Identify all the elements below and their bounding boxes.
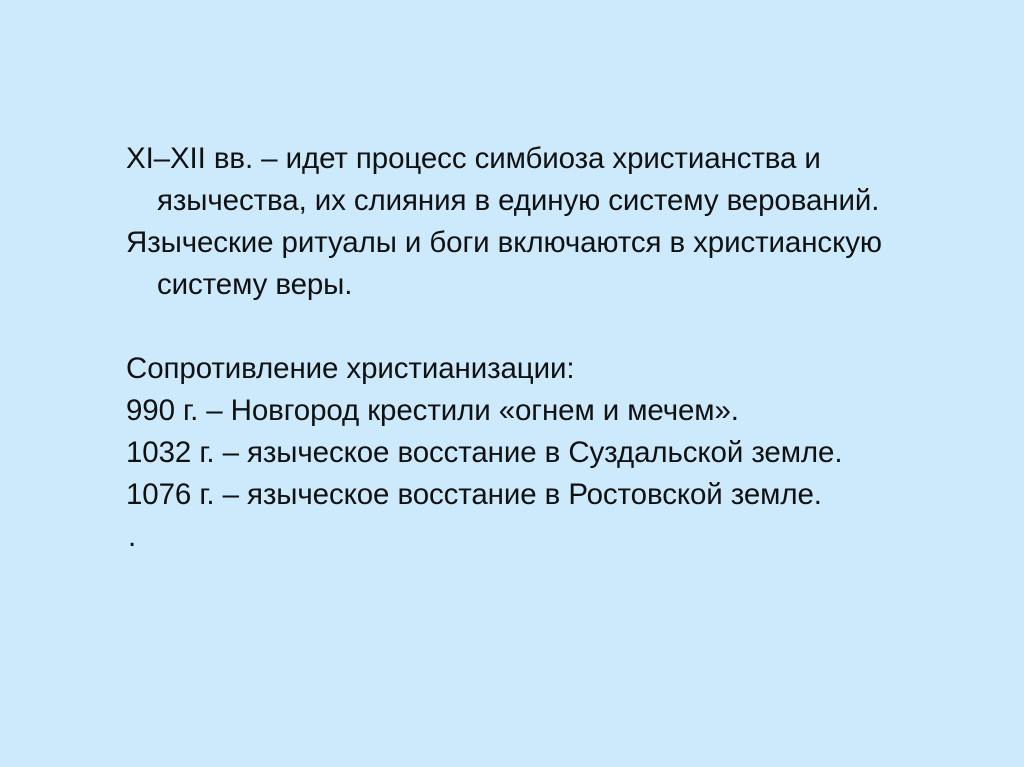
event-990-novgorod: 990 г. – Новгород крестили «огнем и мече… bbox=[126, 390, 946, 432]
event-1032-suzdal: 1032 г. – языческое восстание в Суздальс… bbox=[126, 432, 946, 474]
slide-text-body: XI–XII вв. – идет процесс симбиоза христ… bbox=[126, 138, 926, 558]
blank-line-spacer bbox=[126, 306, 926, 348]
heading-resistance-to-christianization: Сопротивление христианизации: bbox=[126, 348, 946, 390]
paragraph-pagan-rituals: Языческие ритуалы и боги включаются в хр… bbox=[126, 222, 917, 306]
event-1076-rostov: 1076 г. – языческое восстание в Ростовск… bbox=[126, 474, 946, 516]
slide-canvas: XI–XII вв. – идет процесс симбиоза христ… bbox=[0, 0, 1024, 767]
paragraph-symbiosis: XI–XII вв. – идет процесс симбиоза христ… bbox=[126, 138, 917, 222]
trailing-period: . bbox=[126, 516, 926, 558]
